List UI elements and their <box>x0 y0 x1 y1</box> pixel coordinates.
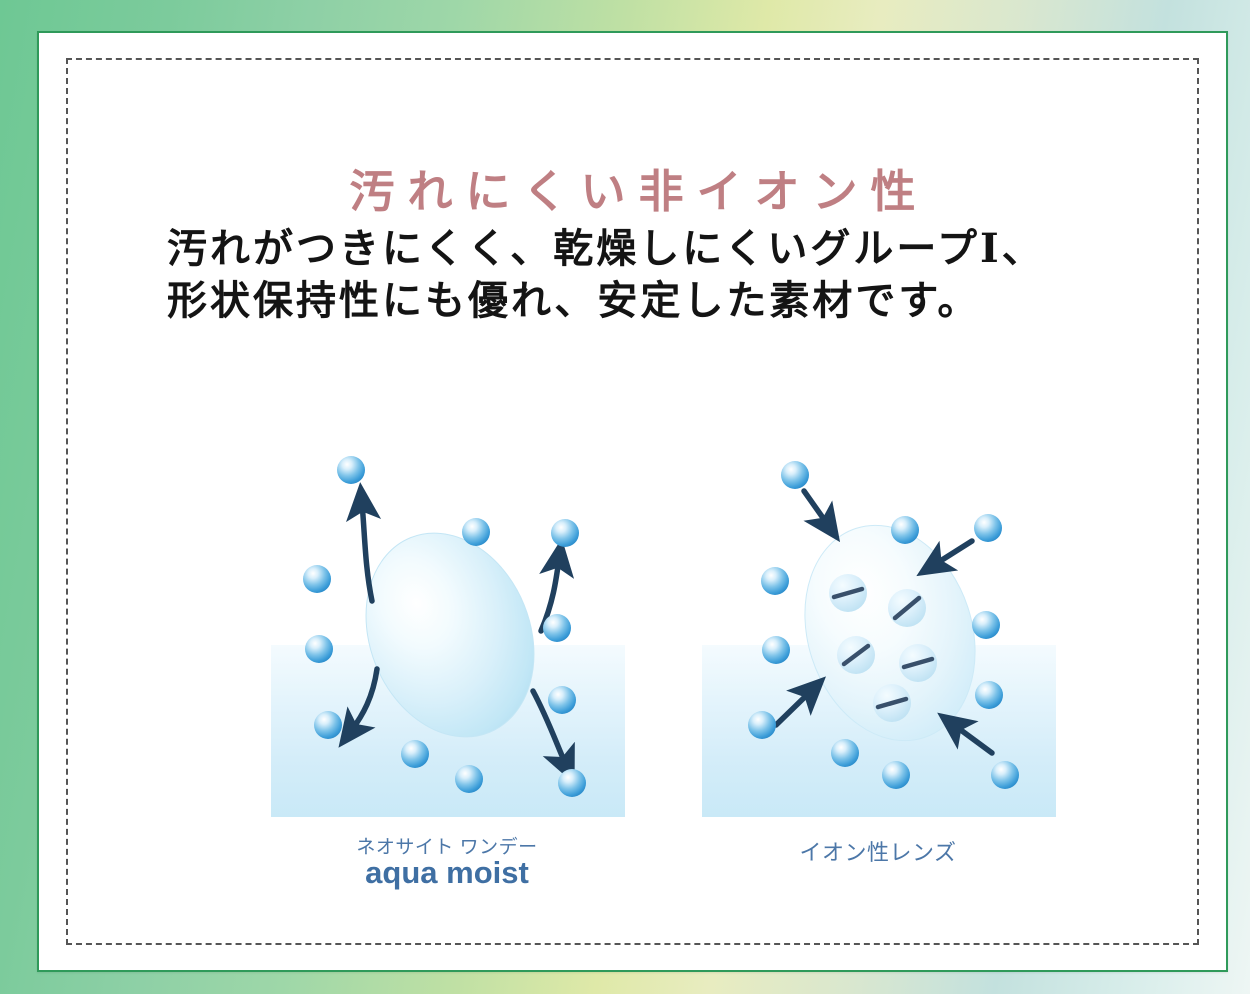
caption-left-product-name: aqua moist <box>269 855 625 891</box>
body-line-1: 汚れがつきにくく、乾燥しにくいグループⅠ、 <box>167 223 1187 275</box>
particle <box>548 686 576 714</box>
particle <box>762 636 790 664</box>
page-title: 汚れにくい非イオン性 <box>39 155 1226 220</box>
minus-charge-icon <box>888 589 926 627</box>
diagram-right-svg <box>700 453 1056 818</box>
minus-charge-icon <box>899 644 937 682</box>
diagram-non-ionic: ネオサイト ワンデー aqua moist <box>269 453 625 903</box>
particle <box>991 761 1019 789</box>
caption-right-lens-type: イオン性レンズ <box>700 835 1056 867</box>
diagram-left-stage <box>269 453 625 818</box>
particle <box>462 518 490 546</box>
lens-non-ionic <box>336 508 563 763</box>
body-description: 汚れがつきにくく、乾燥しにくいグループⅠ、 形状保持性にも優れ、安定した素材です… <box>167 223 1187 327</box>
particle <box>831 739 859 767</box>
page-root: 汚れにくい非イオン性 汚れがつきにくく、乾燥しにくいグループⅠ、 形状保持性にも… <box>0 0 1250 994</box>
particle <box>558 769 586 797</box>
particle <box>748 711 776 739</box>
particle <box>972 611 1000 639</box>
content-card: 汚れにくい非イオン性 汚れがつきにくく、乾燥しにくいグループⅠ、 形状保持性にも… <box>37 31 1228 972</box>
particle <box>455 765 483 793</box>
body-line-2: 形状保持性にも優れ、安定した素材です。 <box>167 275 1187 327</box>
particle <box>781 461 809 489</box>
diagram-left-svg <box>269 453 625 818</box>
particle <box>305 635 333 663</box>
particle <box>891 516 919 544</box>
particle <box>761 567 789 595</box>
particle <box>543 614 571 642</box>
minus-charge-icon <box>829 574 867 612</box>
minus-charge-icon <box>873 684 911 722</box>
particle <box>314 711 342 739</box>
diagram-ionic: イオン性レンズ <box>700 453 1056 903</box>
particle <box>337 456 365 484</box>
particle <box>882 761 910 789</box>
particle <box>975 681 1003 709</box>
particle <box>303 565 331 593</box>
diagram-right-stage <box>700 453 1056 818</box>
particle <box>401 740 429 768</box>
particle <box>551 519 579 547</box>
particle <box>974 514 1002 542</box>
minus-charge-icon <box>837 636 875 674</box>
